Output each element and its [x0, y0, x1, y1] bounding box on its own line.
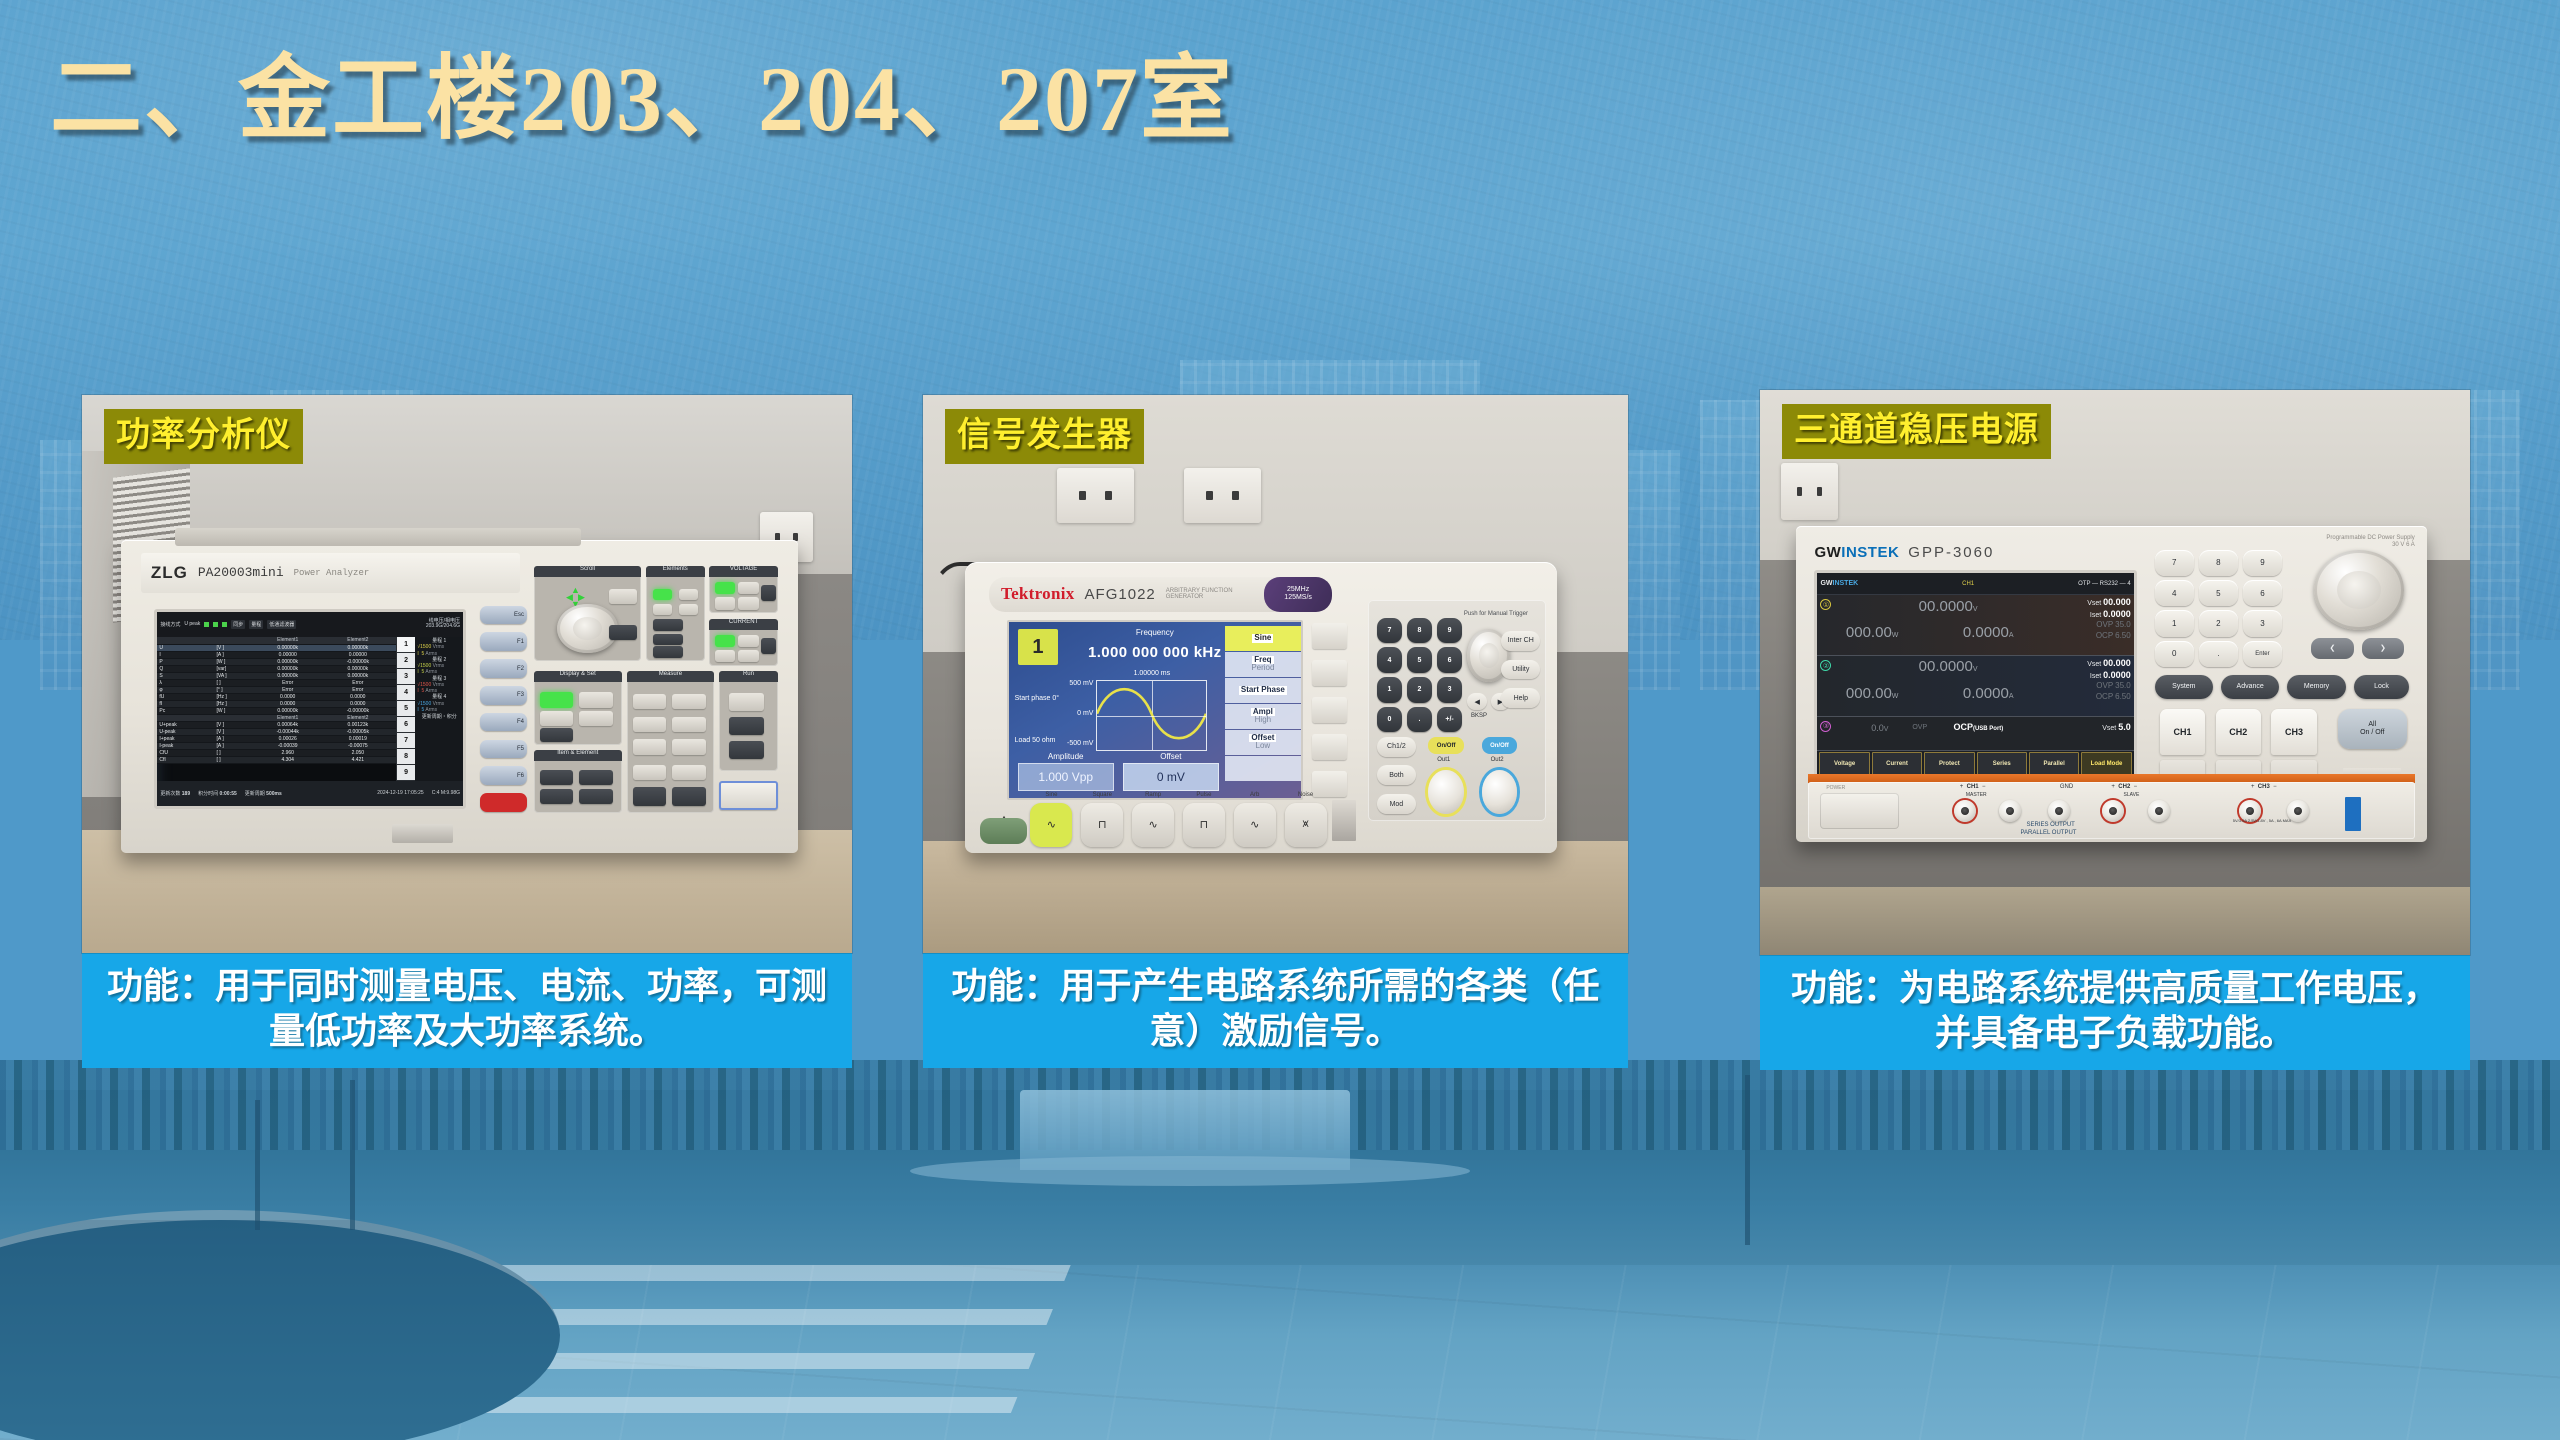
wall-socket: [1781, 463, 1838, 520]
range-block-2: 量程 2√1500 VrmsI 5 Arms: [417, 657, 461, 676]
key-9[interactable]: 9: [2243, 550, 2282, 576]
caption-power-analyzer: 功能：用于同时测量电压、电流、功率，可测量低功率及大功率系统。: [82, 953, 852, 1068]
softkey-column[interactable]: SineFreqPeriodStart PhaseAmplHighOffsetL…: [1225, 626, 1301, 781]
out1-onoff-button[interactable]: On/Off: [1428, 737, 1464, 755]
out1-bnc-connector[interactable]: [1428, 770, 1464, 814]
display-header: GWINSTEK CH1 OTP — RS232 — 4: [1817, 573, 2133, 595]
harmonic-set-button[interactable]: [633, 717, 666, 733]
averaging-button[interactable]: [633, 694, 666, 710]
wall-socket: [1184, 468, 1262, 524]
offset-label: Offset: [1123, 752, 1219, 761]
measure-group: Measure: [627, 671, 715, 813]
channel-2-current: 0.0000A: [1963, 685, 2014, 702]
numeric-keypad[interactable]: 7894561230.+/-: [1377, 618, 1462, 733]
waveform-button-row[interactable]: Sine∿Square⊓Ramp∿Pulse⊓Arb∿Noise⩙: [1030, 803, 1326, 847]
page-number-4[interactable]: 4: [397, 685, 416, 701]
channel-1-current: 0.0000A: [1963, 624, 2014, 641]
keypad-panel: 7894561230.+/- Push for Manual Trigger ◀…: [1368, 600, 1546, 821]
ch3-terminal-label: + CH3 −: [2251, 784, 2277, 790]
scroll-group: Scroll ▲◀ ▶▼: [534, 566, 641, 660]
display-brand-label: GWINSTEK: [1820, 580, 1858, 587]
ch2-terminal-label: + CH2 −: [2111, 784, 2137, 790]
element-button[interactable]: [653, 619, 683, 631]
bezel-button-3[interactable]: [1312, 697, 1348, 723]
arb-wave-icon: ∿: [1234, 803, 1276, 847]
current-auto-button[interactable]: [715, 635, 735, 647]
upeak-label: U peak: [184, 621, 200, 627]
f2-button[interactable]: F2: [480, 659, 527, 678]
update-period: 更新周期 500ms: [245, 790, 282, 797]
power-supply-display[interactable]: GWINSTEK CH1 OTP — RS232 — 4 ① 00.0000V …: [1814, 570, 2136, 779]
key-xxx[interactable]: +/-: [1437, 707, 1462, 733]
cancel-button[interactable]: [653, 634, 683, 644]
ch1-button[interactable]: CH1: [2160, 709, 2205, 754]
generator-display[interactable]: 1 Frequency 1.000 000 000 kHz 1.00000 ms…: [1007, 620, 1303, 800]
range-block-1: 量程 1√1500 VrmsI 5 Arms: [417, 638, 461, 657]
measure-group-title: Measure: [627, 671, 715, 682]
key-3[interactable]: 3: [2243, 610, 2282, 636]
local-button[interactable]: [540, 770, 573, 785]
lpf-filter-button[interactable]: [672, 694, 705, 710]
f1-button[interactable]: F1: [480, 632, 527, 651]
scroll-group-title: Scroll: [534, 566, 641, 577]
ch3-rating-label: 5V/3.0A 2.5V/1.8V , 5A , 6A MAX: [2233, 818, 2291, 823]
noise-wave-icon: ⩙: [1285, 803, 1327, 847]
caption-signal-generator: 功能：用于产生电路系统所需的各类（任意）激励信号。: [923, 953, 1628, 1068]
y-axis-mid-label: 0 mV: [1029, 710, 1093, 717]
instrument-power-analyzer: ZLG PA20003mini Power Analyzer 接线方式 U pe…: [121, 540, 799, 852]
out2-bnc-connector[interactable]: [1482, 770, 1518, 814]
start-button[interactable]: [729, 693, 764, 711]
bench-surface: [923, 841, 1628, 953]
start-phase-label: Start phase 0°: [1015, 695, 1059, 702]
page-number-7[interactable]: 7: [397, 733, 416, 749]
reset-button[interactable]: [609, 589, 637, 604]
bezel-button-1[interactable]: [1312, 623, 1348, 649]
cursor-button[interactable]: [579, 789, 612, 804]
current-manual-button[interactable]: [738, 635, 758, 647]
both-button[interactable]: Both: [1377, 765, 1416, 785]
waveform-plot: [1096, 680, 1207, 750]
softkey-parallel[interactable]: Parallel: [2029, 752, 2079, 774]
parallel-output-label: PARALLEL OUTPUT: [2020, 830, 2076, 836]
wiring-button[interactable]: [653, 646, 683, 657]
key-4[interactable]: 4: [2155, 580, 2194, 606]
key-8[interactable]: 8: [2199, 550, 2238, 576]
load-label: Load 50 ohm: [1015, 737, 1056, 744]
status-led: [213, 622, 218, 627]
side-footer: 更新周期・积分: [417, 714, 461, 720]
store-button[interactable]: [633, 765, 666, 781]
softkey-3[interactable]: Start Phase: [1225, 678, 1301, 703]
series-output-label: SERIES OUTPUT: [2027, 822, 2075, 828]
photo-dc-power-supply: GWINSTEK GPP-3060 Programmable DC Power …: [1760, 390, 2470, 955]
f3-button[interactable]: F3: [480, 686, 527, 705]
integration-time: 积分时间 0:00:55: [198, 790, 237, 797]
all-onoff-button[interactable]: AllOn / Off: [2338, 709, 2407, 749]
softkey-voltage[interactable]: Voltage: [1819, 752, 1869, 774]
prefix-button[interactable]: [579, 770, 612, 785]
memory-button[interactable]: Memory: [2287, 675, 2345, 699]
out1-label: Out1: [1437, 757, 1450, 763]
usb-port[interactable]: [1332, 800, 1356, 841]
usb-port[interactable]: [392, 824, 453, 843]
page-number-5[interactable]: 5: [397, 701, 416, 717]
f6-button[interactable]: F6: [480, 766, 527, 785]
key-1[interactable]: 1: [2155, 610, 2194, 636]
item-element-group-title: Item & Element: [534, 750, 622, 761]
range-block-3: 量程 3√1500 VrmsI 5 Arms: [417, 676, 461, 695]
lock-button[interactable]: Lock: [2354, 675, 2410, 699]
status-led: [222, 622, 227, 627]
num-button[interactable]: [540, 692, 573, 708]
page-number-column[interactable]: 123456789: [397, 637, 416, 781]
channel-row-1[interactable]: ① 00.0000V 000.00W 0.0000A Vset 00.000 I…: [1817, 595, 2133, 656]
power-button[interactable]: [980, 818, 1027, 844]
waveform-button-square[interactable]: Square⊓: [1081, 803, 1123, 847]
gnd-jack[interactable]: [2048, 800, 2070, 822]
instrument-function-generator: Tektronix AFG1022 ARBITRARY FUNCTIONGENE…: [965, 562, 1557, 852]
background-pole: [350, 1080, 355, 1230]
brand-plate: GWINSTEK GPP-3060: [1814, 535, 2206, 570]
waveform-label: Ramp: [1132, 792, 1174, 798]
left-arrow-button[interactable]: ◀: [1467, 693, 1487, 711]
item-element-group: Item & Element: [534, 750, 622, 813]
badge-dc-power-supply: 三通道稳压电源: [1782, 404, 2051, 459]
manual-trigger-label: Push for Manual Trigger: [1464, 611, 1528, 617]
stop-button[interactable]: [729, 717, 764, 735]
voltage-ext-button[interactable]: [715, 597, 735, 609]
key-5[interactable]: 5: [2199, 580, 2238, 606]
softkey-1[interactable]: Sine: [1225, 626, 1301, 651]
print-button[interactable]: [672, 765, 705, 781]
page-number-2[interactable]: 2: [397, 653, 416, 669]
pulse-wave-icon: ⊓: [1183, 803, 1225, 847]
sine-wave-icon: [1097, 681, 1206, 746]
system-button[interactable]: System: [2155, 675, 2213, 699]
channel-row-3[interactable]: ③ 0.0V OVP OCP(USB Port) Vset 5.0: [1817, 717, 2133, 751]
page-number-6[interactable]: 6: [397, 717, 416, 733]
display-softkey-row[interactable]: VoltageCurrentProtectSeriesParallelLoad …: [1817, 751, 2133, 775]
measure-null-button[interactable]: [672, 717, 705, 733]
capture-button[interactable]: [672, 787, 705, 805]
softkey-current[interactable]: Current: [1872, 752, 1922, 774]
advance-button[interactable]: Advance: [2221, 675, 2279, 699]
control-panel: Scroll ▲◀ ▶▼ Elements: [534, 556, 778, 818]
key-6[interactable]: 6: [1437, 647, 1462, 673]
default-button[interactable]: [609, 625, 637, 640]
voltage-group-title: VOLTAGE: [709, 566, 777, 577]
current-group: CURRENT: [709, 619, 777, 666]
update-count: 更新次数 189: [160, 790, 190, 797]
channel-3-voltage: 0.0V: [1871, 723, 1888, 733]
integ-button[interactable]: [579, 711, 612, 726]
run-group-title: Run: [719, 671, 778, 682]
elements-group-title: Elements: [646, 566, 705, 577]
range-info-column: 量程 1√1500 VrmsI 5 Arms量程 2√1500 VrmsI 5 …: [415, 637, 463, 781]
caption-dc-power-supply: 功能：为电路系统提供高质量工作电压，并具备电子负载功能。: [1760, 955, 2470, 1070]
instrument-type-label: ARBITRARY FUNCTIONGENERATOR: [1166, 588, 1233, 601]
bksp-label: BKSP: [1471, 713, 1487, 719]
key-1[interactable]: 1: [1377, 677, 1402, 703]
ch2-negative-jack[interactable]: [2148, 800, 2170, 822]
gnd-terminal-label: GND: [2060, 784, 2073, 790]
filter-label: 低通滤波器: [267, 620, 296, 629]
key-2[interactable]: 2: [1407, 677, 1432, 703]
channel-3-ocp-label: OCP(USB Port): [1953, 722, 2003, 732]
bezel-button-2[interactable]: [1312, 660, 1348, 686]
key-x[interactable]: .: [1407, 707, 1432, 733]
waveform-button-ramp[interactable]: Ramp∿: [1132, 803, 1174, 847]
channel-1-power: 000.00W: [1846, 624, 1899, 641]
key-x[interactable]: .: [2199, 641, 2238, 667]
panel-dc-power-supply: GWINSTEK GPP-3060 Programmable DC Power …: [1760, 390, 2470, 1070]
brand-label: ZLG: [151, 563, 188, 583]
utility-button[interactable]: Utility: [1501, 660, 1540, 680]
amplitude-label: Amplitude: [1018, 752, 1114, 761]
softkey-protect[interactable]: Protect: [1924, 752, 1974, 774]
brand-label: Tektronix: [1001, 584, 1075, 604]
ch1-terminal-label: + CH1 −: [1960, 784, 1986, 790]
model-label: PA20003mini: [198, 565, 284, 580]
display-status-flags: OTP — RS232 — 4: [2078, 581, 2131, 587]
key-0[interactable]: 0: [2155, 641, 2194, 667]
voltage-range-button[interactable]: [761, 585, 776, 601]
panel-power-analyzer: ZLG PA20003mini Power Analyzer 接线方式 U pe…: [82, 395, 852, 1068]
instrument-subtitle: Power Analyzer: [294, 568, 370, 578]
brand-label: GWINSTEK: [1814, 544, 1899, 561]
ch3-button[interactable]: CH3: [2271, 709, 2316, 754]
page-number-8[interactable]: 8: [397, 749, 416, 765]
range-block-4: 量程 4√1500 VrmsI 5 Arms: [417, 694, 461, 713]
model-label: AFG1022: [1085, 586, 1156, 603]
photo-power-analyzer: ZLG PA20003mini Power Analyzer 接线方式 U pe…: [82, 395, 852, 953]
photo-signal-generator: Tektronix AFG1022 ARBITRARY FUNCTIONGENE…: [923, 395, 1628, 953]
softkey-load-mode[interactable]: Load Mode: [2081, 752, 2131, 774]
ch2-positive-jack[interactable]: [2102, 800, 2124, 822]
key-enter[interactable]: Enter: [2243, 641, 2282, 667]
waveform-label: Sine: [1030, 792, 1072, 798]
f4-button[interactable]: F4: [480, 713, 527, 732]
brand-plate: ZLG PA20003mini Power Analyzer: [141, 553, 520, 594]
key-0[interactable]: 0: [1377, 707, 1402, 733]
wave-button[interactable]: [579, 692, 612, 708]
badge-signal-generator: 信号发生器: [945, 409, 1144, 464]
element-c3-button[interactable]: [653, 604, 672, 615]
channel-1-voltage: 00.0000V: [1919, 598, 1978, 615]
key-5[interactable]: 5: [1407, 647, 1432, 673]
ramp-wave-icon: ∿: [1132, 803, 1174, 847]
background-pole: [1745, 1075, 1750, 1245]
key-6[interactable]: 6: [2243, 580, 2282, 606]
ch1-positive-jack[interactable]: [1954, 800, 1976, 822]
model-label: GPP-3060: [1908, 544, 1994, 561]
waveform-button-sine[interactable]: Sine∿: [1030, 803, 1072, 847]
terminal-strip: POWER + CH1 − MASTER GND + CH2 −: [1808, 782, 2415, 839]
page-number-9[interactable]: 9: [397, 765, 416, 781]
range-label: 量程: [249, 620, 263, 629]
right-arrow-button[interactable]: ❯: [2362, 638, 2404, 659]
channel-3-indicator: ③: [1820, 721, 1831, 732]
offset-value[interactable]: 0 mV: [1123, 763, 1219, 791]
run-group: Run: [719, 671, 778, 771]
plot-time-label: 1.00000 ms: [1096, 670, 1207, 677]
ch-select-button[interactable]: Ch1/2: [1377, 737, 1416, 757]
ratio-value: 203.9G/204.6G: [426, 623, 460, 629]
display-set-group-title: Display & Set: [534, 671, 622, 682]
channel-2-power: 000.00W: [1846, 685, 1899, 702]
channel-1-indicator: ①: [1820, 599, 1831, 610]
key-7[interactable]: 7: [1377, 618, 1402, 644]
display-set-group: Display & Set: [534, 671, 622, 744]
softkey-2[interactable]: FreqPeriod: [1225, 652, 1301, 677]
power-label: POWER: [1826, 785, 1845, 791]
spec-tag: 25MHz 125MS/s: [1264, 577, 1333, 612]
ratio-readout: 线电压/相电压 203.9G/204.6G: [426, 619, 460, 630]
softkey-4[interactable]: AmplHigh: [1225, 704, 1301, 729]
mod-button[interactable]: Mod: [1377, 794, 1416, 814]
element-c4-button[interactable]: [679, 604, 698, 615]
channel-2-indicator: ②: [1820, 660, 1831, 671]
key-7[interactable]: 7: [2155, 550, 2194, 576]
channel-2-voltage: 00.0000V: [1919, 658, 1978, 675]
wiring-mode-label: 接线方式: [160, 621, 180, 628]
sync-source-button[interactable]: [672, 739, 705, 755]
usb-3-port[interactable]: [2345, 797, 2361, 831]
sine-wave-icon: ∿: [1030, 803, 1072, 847]
element-c2-button[interactable]: [679, 589, 698, 600]
current-range-button[interactable]: [761, 638, 776, 654]
power-switch[interactable]: [1820, 793, 1899, 828]
harmo-button[interactable]: [540, 711, 573, 726]
waveform-button-pulse[interactable]: Pulse⊓: [1183, 803, 1225, 847]
f5-button[interactable]: F5: [480, 740, 527, 759]
waveform-label: Pulse: [1183, 792, 1225, 798]
channel-2-setpoints: Vset 00.000 Iset 0.0000 OVP 35.0 OCP 6.5…: [2087, 658, 2131, 703]
brand-plate: Tektronix AFG1022 ARBITRARY FUNCTIONGENE…: [989, 577, 1332, 612]
display-footer: 更新次数 189 积分时间 0:00:55 更新周期 500ms 2024-12…: [157, 781, 463, 806]
wall-socket: [1057, 468, 1135, 524]
single-button[interactable]: [729, 741, 764, 759]
local-shift-button[interactable]: [719, 781, 778, 810]
key-9[interactable]: 9: [1437, 618, 1462, 644]
panel-signal-generator: Tektronix AFG1022 ARBITRARY FUNCTIONGENE…: [923, 395, 1628, 1068]
key-2[interactable]: 2: [2199, 610, 2238, 636]
elements-group: Elements: [646, 566, 705, 660]
avg-button[interactable]: [633, 739, 666, 755]
softkey-5[interactable]: OffsetLow: [1225, 730, 1301, 755]
channel-3-setpoints: Vset 5.0: [2102, 722, 2130, 734]
current-ext-button[interactable]: [715, 650, 735, 662]
memory-status: C:4 M:9.98G: [432, 790, 460, 796]
waveform-label: Arb: [1234, 792, 1276, 798]
item-button[interactable]: [540, 728, 573, 741]
key-3[interactable]: 3: [1437, 677, 1462, 703]
ch2-role-label: SLAVE: [2124, 792, 2140, 798]
waveform-label: Noise: [1285, 792, 1327, 798]
amplitude-value[interactable]: 1.000 Vpp: [1018, 763, 1114, 791]
slide-canvas: 二、金工楼203、204、207室 ZLG PA20003mini Power …: [0, 0, 2560, 1440]
display-side-panel: 123456789 量程 1√1500 VrmsI 5 Arms量程 2√150…: [396, 637, 463, 781]
control-panel: 7894561230.Enter ❮ ❯ System Advance Memo…: [2149, 545, 2414, 811]
background-pole: [255, 1100, 260, 1230]
background-monument: [1020, 1090, 1350, 1170]
rotary-knob[interactable]: [2314, 550, 2404, 630]
badge-power-analyzer: 功率分析仪: [104, 409, 303, 464]
page-number-3[interactable]: 3: [397, 669, 416, 685]
out2-label: Out2: [1491, 757, 1504, 763]
record-button[interactable]: [480, 793, 527, 812]
y-axis-top-label: 500 mV: [1029, 680, 1093, 687]
voltage-other-button[interactable]: [738, 597, 758, 609]
page-number-1[interactable]: 1: [397, 637, 416, 653]
bench-surface: [1760, 887, 2470, 955]
waveform-label: Square: [1081, 792, 1123, 798]
function-key-column[interactable]: Esc F1 F2 F3 F4 F5 F6: [480, 606, 527, 812]
help-button[interactable]: Help: [1501, 688, 1540, 708]
bezel-button-column[interactable]: [1312, 623, 1348, 797]
inter-ch-button[interactable]: Inter CH: [1501, 631, 1540, 651]
element-c1-button[interactable]: [653, 589, 672, 600]
esc-button[interactable]: Esc: [480, 606, 527, 625]
voltage-auto-button[interactable]: [715, 582, 735, 594]
ch2-button[interactable]: CH2: [2216, 709, 2261, 754]
numeric-keypad[interactable]: 7894561230.Enter: [2155, 550, 2282, 667]
ch1-negative-jack[interactable]: [1999, 800, 2021, 822]
ch1-role-label: MASTER: [1966, 792, 1987, 798]
display-active-channel: CH1: [1962, 581, 1974, 587]
voltage-group: VOLTAGE: [709, 566, 777, 613]
key-8[interactable]: 8: [1407, 618, 1432, 644]
status-led: [204, 622, 209, 627]
channel-row-2[interactable]: ② 00.0000V 000.00W 0.0000A Vset 00.000 I…: [1817, 656, 2133, 717]
softkey-series[interactable]: Series: [1977, 752, 2027, 774]
analyzer-display[interactable]: 接线方式 U peak 同步 量程 低通滤波器 线电压/相电压 203.9G/2…: [154, 609, 466, 809]
softkey-6[interactable]: [1225, 756, 1301, 781]
left-arrow-button[interactable]: ❮: [2311, 638, 2353, 659]
sync-label: 同步: [231, 620, 245, 629]
page-title: 二、金工楼203、204、207室: [50, 24, 1234, 157]
carry-handle[interactable]: [175, 528, 582, 547]
display-datetime: 2024-12-19 17:05:25: [377, 790, 423, 796]
square-wave-icon: ⊓: [1081, 803, 1123, 847]
waveform-button-noise[interactable]: Noise⩙: [1285, 803, 1327, 847]
disp-set-button[interactable]: [540, 789, 573, 804]
channel-3-ovp-label: OVP: [1912, 724, 1927, 731]
voltage-manual-button[interactable]: [738, 582, 758, 594]
key-4[interactable]: 4: [1377, 647, 1402, 673]
current-group-title: CURRENT: [709, 619, 777, 630]
waveform-button-arb[interactable]: Arb∿: [1234, 803, 1276, 847]
instrument-dc-power-supply: GWINSTEK GPP-3060 Programmable DC Power …: [1796, 526, 2428, 842]
setup-button[interactable]: [633, 787, 666, 805]
display-status-bar: 接线方式 U peak 同步 量程 低通滤波器 线电压/相电压 203.9G/2…: [157, 612, 463, 637]
channel-1-setpoints: Vset 00.000 Iset 0.0000 OVP 35.0 OCP 6.5…: [2087, 597, 2131, 642]
current-sensor-button[interactable]: [738, 650, 758, 662]
bezel-button-4[interactable]: [1312, 734, 1348, 760]
out2-onoff-button[interactable]: On/Off: [1482, 737, 1518, 755]
